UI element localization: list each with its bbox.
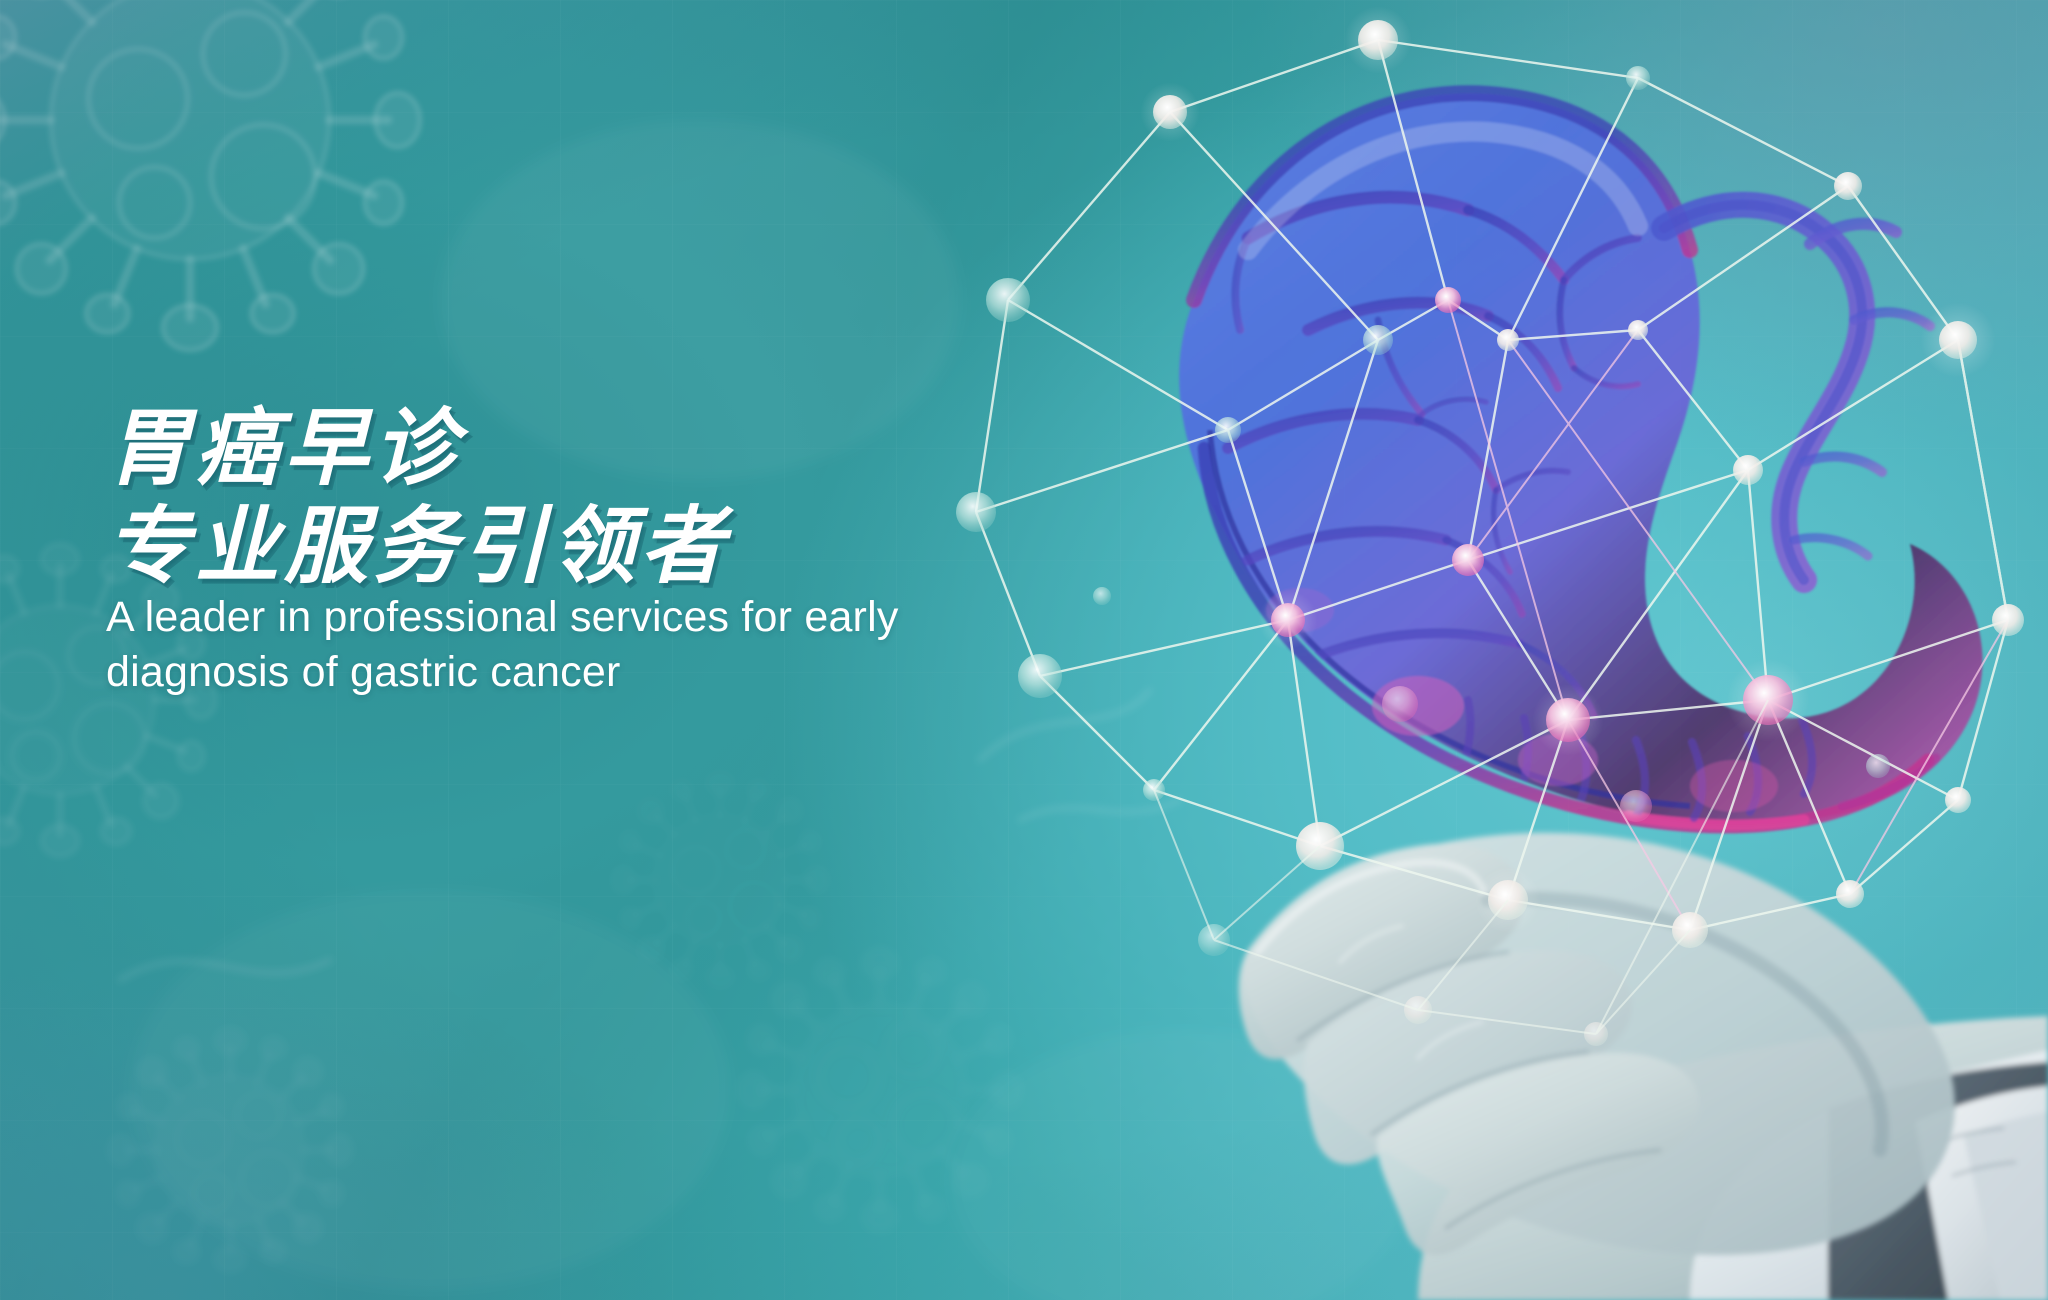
duodenum-branch bbox=[1664, 205, 1930, 580]
headline-line-1: 胃癌早诊 bbox=[106, 404, 1146, 492]
subtitle-line-1: A leader in professional services for ea… bbox=[106, 590, 1146, 645]
subtitle-line-2: diagnosis of gastric cancer bbox=[106, 645, 1146, 700]
subtitle: A leader in professional services for ea… bbox=[106, 590, 1146, 700]
banner-copy: 胃癌早诊 专业服务引领者 A leader in professional se… bbox=[106, 404, 1146, 700]
page-title: 胃癌早诊 专业服务引领者 bbox=[106, 404, 1146, 590]
headline-line-2: 专业服务引领者 bbox=[106, 502, 1146, 590]
hero-banner: 胃癌早诊 专业服务引领者 A leader in professional se… bbox=[0, 0, 2048, 1300]
